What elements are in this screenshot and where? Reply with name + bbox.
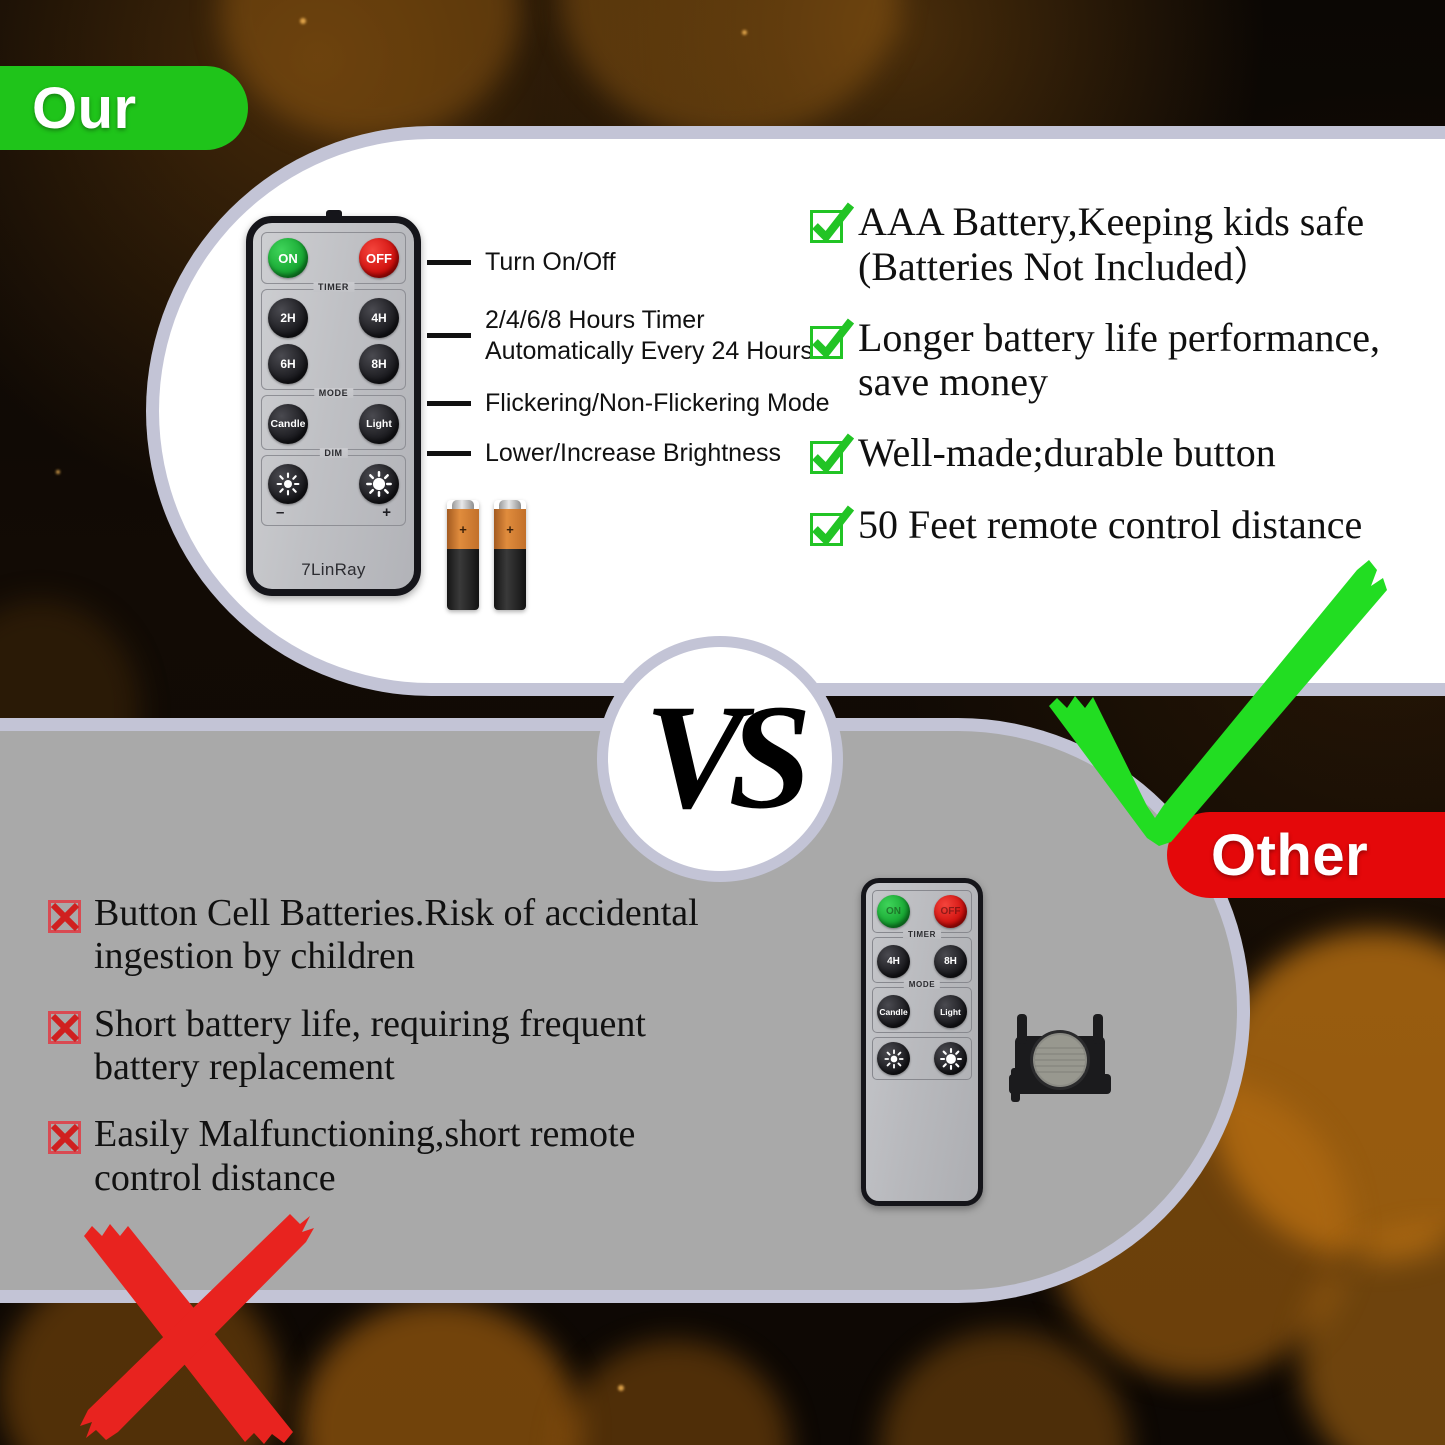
callout-dim: Lower/Increase Brightness [427,438,781,469]
callout-dash [427,451,471,456]
coin-cell-battery-holder [1005,1008,1115,1110]
callout-timer: 2/4/6/8 Hours Timer Automatically Every … [427,305,813,366]
bokeh-blob [220,0,520,140]
con-item: Button Cell Batteries.Risk of accidental… [48,892,768,979]
aaa-battery: + [494,500,526,610]
dim-plus-label: + [382,505,391,520]
features-list: AAA Battery,Keeping kids safe (Batteries… [808,200,1428,575]
battery-cap [452,500,474,509]
timer-4h-button[interactable]: 4H [359,298,399,338]
feature-text: AAA Battery,Keeping kids safe (Batteries… [858,200,1364,290]
other-power-group: ON OFF [872,890,972,933]
red-cross-icon [48,1011,84,1047]
sun-large-icon [940,1048,962,1070]
feature-text: Longer battery life performance, save mo… [858,316,1380,406]
battery-positive-end: + [494,509,526,549]
bokeh-spark [300,18,306,24]
red-cross-icon [48,1121,84,1157]
battery-positive-end: + [447,509,479,549]
other-mode-label: MODE [904,980,940,989]
bokeh-blob [560,1340,790,1445]
red-cross-icon [48,900,84,936]
sun-large-icon [366,471,392,497]
green-check-icon [808,437,848,477]
feature-item: Longer battery life performance, save mo… [808,316,1428,406]
vs-badge: VS [597,636,843,882]
other-timer-8h-button[interactable]: 8H [934,945,967,978]
timer-6h-button[interactable]: 6H [268,344,308,384]
infographic-canvas: ON OFF TIMER 2H 4H 6H 8H MODE Candle Lig… [0,0,1445,1445]
bokeh-blob [880,1330,1130,1445]
con-text: Short battery life, requiring frequent b… [94,1003,646,1090]
dim-up-button[interactable] [359,464,399,504]
callout-text: 2/4/6/8 Hours Timer Automatically Every … [485,305,813,366]
green-check-icon [808,509,848,549]
bokeh-spark [742,30,747,35]
callout-power: Turn On/Off [427,247,616,278]
feature-text: Well-made;durable button [858,431,1276,476]
other-timer-label: TIMER [903,930,941,939]
sun-small-icon [276,472,300,496]
aaa-battery: + [447,500,479,610]
other-dim-down-button[interactable] [877,1042,910,1075]
our-badge: Our [0,66,248,150]
feature-item: 50 Feet remote control distance [808,503,1428,549]
callout-text: Turn On/Off [485,247,616,278]
other-candle-button[interactable]: Candle [877,995,910,1028]
other-off-button[interactable]: OFF [934,895,967,928]
callout-dash [427,333,471,338]
mode-group: MODE Candle Light [261,395,406,450]
callout-dash [427,260,471,265]
battery-body [447,549,479,610]
bokeh-blob [560,0,900,140]
other-timer-4h-button[interactable]: 4H [877,945,910,978]
feature-text: 50 Feet remote control distance [858,503,1362,548]
light-mode-button[interactable]: Light [359,404,399,444]
off-button[interactable]: OFF [359,238,399,278]
green-check-icon [808,206,848,246]
green-check-icon [808,322,848,362]
dim-group: DIM [261,455,406,526]
timer-group-label: TIMER [313,282,354,292]
timer-2h-button[interactable]: 2H [268,298,308,338]
power-group: ON OFF [261,232,406,284]
battery-cap [499,500,521,509]
callout-text: Lower/Increase Brightness [485,438,781,469]
svg-text:VS: VS [644,679,806,839]
remote-brand-label: 7LinRay [261,560,406,580]
remote-ir-nub [326,210,342,218]
on-button[interactable]: ON [268,238,308,278]
cons-list: Button Cell Batteries.Risk of accidental… [48,892,768,1224]
dim-group-label: DIM [319,448,347,458]
other-light-button[interactable]: Light [934,995,967,1028]
feature-item: Well-made;durable button [808,431,1428,477]
con-text: Easily Malfunctioning,short remote contr… [94,1113,635,1200]
con-text: Button Cell Batteries.Risk of accidental… [94,892,699,979]
callout-text: Flickering/Non-Flickering Mode [485,388,830,419]
sun-small-icon [884,1049,904,1069]
other-dim-group [872,1037,972,1080]
other-remote: ON OFF TIMER 4H 8H MODE Candle Light [861,878,983,1206]
other-mode-group: MODE Candle Light [872,987,972,1033]
con-item: Easily Malfunctioning,short remote contr… [48,1113,768,1200]
candle-mode-button[interactable]: Candle [268,404,308,444]
vs-logo-icon: VS [625,679,815,839]
other-timer-group: TIMER 4H 8H [872,937,972,983]
dim-minus-label: – [276,505,284,520]
dim-down-button[interactable] [268,464,308,504]
other-on-button[interactable]: ON [877,895,910,928]
bokeh-spark [618,1385,624,1391]
battery-body [494,549,526,610]
callout-mode: Flickering/Non-Flickering Mode [427,388,830,419]
bokeh-spark [56,470,60,474]
con-item: Short battery life, requiring frequent b… [48,1003,768,1090]
our-remote: ON OFF TIMER 2H 4H 6H 8H MODE Candle Lig… [246,216,421,596]
other-dim-up-button[interactable] [934,1042,967,1075]
timer-8h-button[interactable]: 8H [359,344,399,384]
big-green-check-icon [1027,556,1397,846]
feature-item: AAA Battery,Keeping kids safe (Batteries… [808,200,1428,290]
timer-group: TIMER 2H 4H 6H 8H [261,289,406,390]
mode-group-label: MODE [314,388,353,398]
big-red-x-icon [58,1196,358,1445]
callout-dash [427,401,471,406]
